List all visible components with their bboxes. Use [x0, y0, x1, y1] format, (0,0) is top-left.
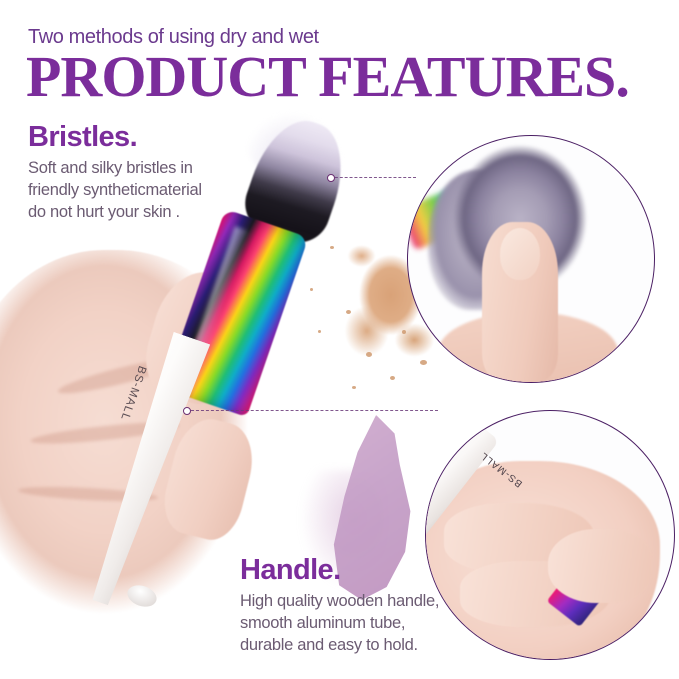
page-title: PRODUCT FEATURES.	[26, 48, 629, 106]
leader-line-bristles	[330, 177, 416, 178]
powder-speck	[420, 360, 427, 365]
powder-speck	[310, 288, 313, 291]
powder-speck	[366, 352, 372, 357]
inset-thumb	[548, 529, 652, 603]
leader-marker-bristles	[327, 174, 335, 182]
feature-title-bristles: Bristles.	[28, 122, 243, 154]
feature-block-bristles: Bristles. Soft and silky bristles in fri…	[28, 122, 243, 224]
powder-speck	[318, 330, 321, 333]
leader-marker-handle	[183, 407, 191, 415]
callout-circle-bristles	[407, 135, 655, 383]
feature-body-bristles: Soft and silky bristles in friendly synt…	[28, 158, 243, 224]
inset-thumbnail	[500, 228, 540, 280]
powder-speck	[346, 310, 351, 314]
powder-speck	[402, 330, 406, 334]
powder-speck	[330, 246, 334, 249]
leader-line-handle	[186, 410, 438, 411]
callout-circle-handle: BS-MALL	[425, 410, 675, 660]
powder-speck	[352, 386, 356, 389]
product-features-infographic: BS-MALL Two methods of using dry and wet…	[0, 0, 679, 679]
powder-speck	[390, 376, 395, 380]
